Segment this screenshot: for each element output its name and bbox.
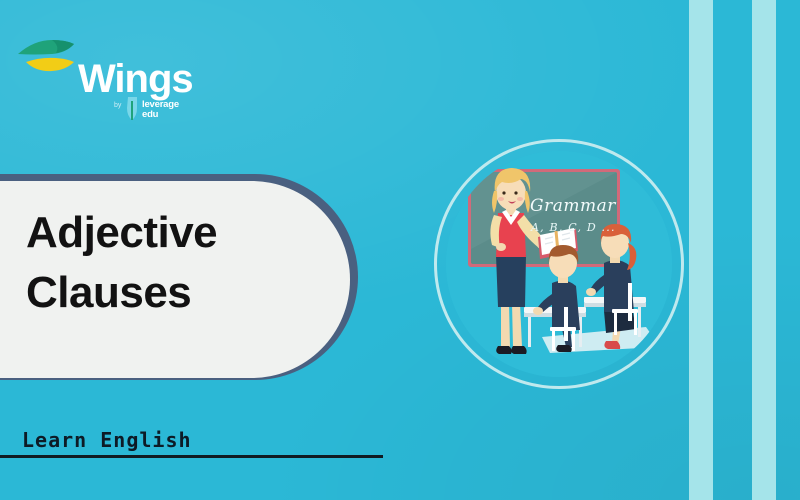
page-title: Adjective Clauses bbox=[26, 203, 336, 323]
logo-subbrand: leverage edu bbox=[142, 100, 179, 120]
logo-by-label: by bbox=[114, 102, 121, 109]
logo-subbrand-line2: edu bbox=[142, 110, 179, 120]
decor-stripe-2 bbox=[752, 0, 776, 500]
footer-category-label: Learn English bbox=[22, 428, 192, 452]
page-title-line-1: Adjective bbox=[26, 203, 336, 263]
blackboard-title: Grammar bbox=[530, 196, 616, 216]
footer-divider bbox=[0, 455, 383, 458]
banner-root: Grammar A, B, C, D ... Wings by leverage… bbox=[0, 0, 800, 500]
decor-stripe-1 bbox=[689, 0, 713, 500]
logo-wordmark: Wings bbox=[78, 59, 193, 99]
illustration-disc bbox=[446, 151, 672, 377]
page-title-line-2: Clauses bbox=[26, 263, 336, 323]
blackboard-subtitle: A, B, C, D ... bbox=[531, 221, 616, 234]
leverage-edu-icon bbox=[124, 96, 142, 122]
brand-logo[interactable]: Wings by leverage edu bbox=[16, 28, 196, 98]
